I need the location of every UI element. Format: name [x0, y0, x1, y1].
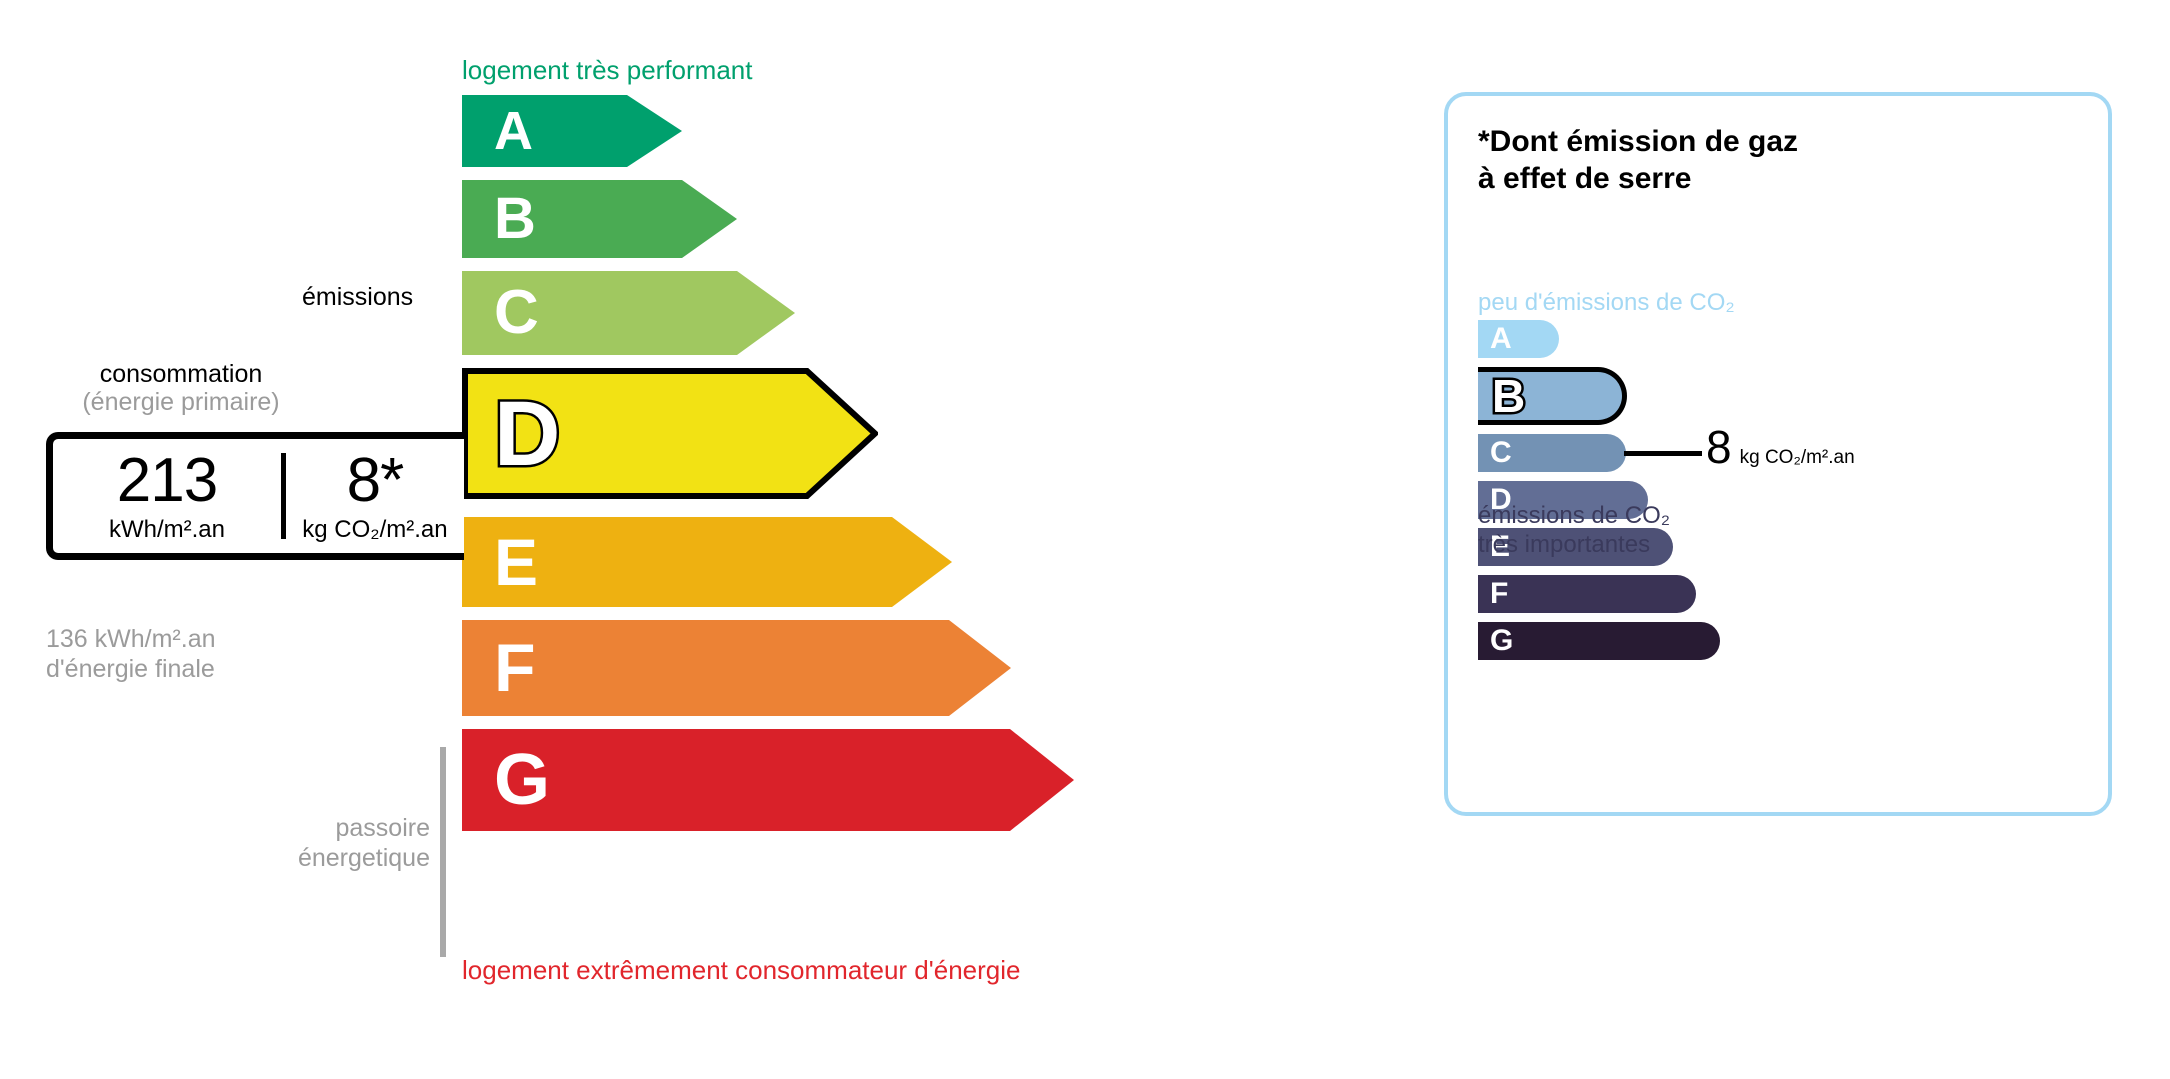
- co2-emissions-value: 8*: [286, 450, 464, 512]
- consumption-header-main: consommation: [46, 360, 316, 388]
- co2-callout: 8 kg CO₂/m².an: [1706, 424, 1855, 470]
- co2-top-caption: peu d'émissions de CO₂: [1478, 289, 1735, 317]
- final-energy-line2: d'énergie finale: [46, 654, 216, 684]
- energy-band-letter-f: F: [494, 634, 536, 702]
- co2-title-line1: *Dont émission de gaz: [1478, 124, 1798, 161]
- co2-title-line2: à effet de serre: [1478, 161, 1798, 198]
- co2-band-letter-f: F: [1490, 579, 1508, 609]
- co2-callout-unit: kg CO₂/m².an: [1740, 447, 1855, 469]
- co2-panel: *Dont émission de gaz à effet de serre p…: [1444, 92, 2112, 816]
- energy-band-d: D: [462, 368, 878, 499]
- co2-band-shape-g: [1478, 622, 1720, 660]
- co2-value-cell: 8* kg CO₂/m².an: [286, 450, 464, 542]
- energy-band-c: C: [462, 271, 795, 355]
- energy-band-letter-a: A: [494, 104, 533, 158]
- co2-band-shape-f: [1478, 575, 1696, 613]
- energy-bands-list: ABCDEFG: [462, 95, 1074, 844]
- emissions-header: émissions: [302, 283, 413, 311]
- energy-band-shape-g: [462, 729, 1074, 831]
- co2-emissions-unit: kg CO₂/m².an: [286, 518, 464, 542]
- primary-energy-cell: 213 kWh/m².an: [53, 450, 281, 542]
- co2-callout-value: 8: [1706, 424, 1732, 470]
- energy-band-letter-b: B: [494, 190, 536, 248]
- co2-panel-title: *Dont émission de gaz à effet de serre: [1478, 124, 1798, 197]
- co2-band-b: B: [1478, 367, 1720, 425]
- consumption-header-sub: (énergie primaire): [46, 388, 316, 416]
- energy-band-e: E: [462, 517, 952, 607]
- energy-band-b: B: [462, 180, 737, 258]
- primary-energy-unit: kWh/m².an: [53, 518, 281, 542]
- energy-band-g: G: [462, 729, 1074, 831]
- energy-band-letter-e: E: [494, 529, 538, 595]
- co2-bottom-caption-line2: très importantes: [1478, 531, 1670, 560]
- co2-band-letter-g: G: [1490, 626, 1513, 656]
- co2-band-a: A: [1478, 320, 1720, 358]
- passoire-label: passoire énergetique: [180, 813, 430, 873]
- co2-bottom-caption: émissions de CO₂ très importantes: [1478, 502, 1670, 560]
- co2-bars-list: ABCDEFG: [1478, 320, 1720, 669]
- energy-band-letter-g: G: [494, 744, 550, 816]
- co2-band-letter-c: C: [1490, 438, 1512, 468]
- co2-band-f: F: [1478, 575, 1720, 613]
- energy-band-shape-f: [462, 620, 1011, 716]
- energy-band-letter-c: C: [494, 282, 539, 344]
- bottom-caption: logement extrêmement consommateur d'éner…: [462, 955, 1020, 986]
- co2-band-g: G: [1478, 622, 1720, 660]
- passoire-line1: passoire: [180, 813, 430, 843]
- value-box: 213 kWh/m².an 8* kg CO₂/m².an: [46, 432, 464, 560]
- passoire-line2: énergetique: [180, 843, 430, 873]
- passoire-bracket: [440, 747, 446, 957]
- top-caption: logement très performant: [462, 55, 752, 86]
- co2-leader-line: [1624, 451, 1702, 456]
- energy-band-a: A: [462, 95, 682, 167]
- co2-band-letter-b: B: [1492, 373, 1525, 419]
- primary-energy-value: 213: [53, 450, 281, 512]
- dpe-energy-label: logement très performant ABCDEFG logemen…: [0, 0, 1430, 1079]
- co2-band-letter-a: A: [1490, 324, 1512, 354]
- co2-bottom-caption-line1: émissions de CO₂: [1478, 502, 1670, 531]
- consumption-header: consommation (énergie primaire): [46, 360, 316, 416]
- final-energy-note: 136 kWh/m².an d'énergie finale: [46, 624, 216, 684]
- energy-band-letter-d: D: [494, 388, 560, 480]
- energy-band-f: F: [462, 620, 1011, 716]
- final-energy-line1: 136 kWh/m².an: [46, 624, 216, 654]
